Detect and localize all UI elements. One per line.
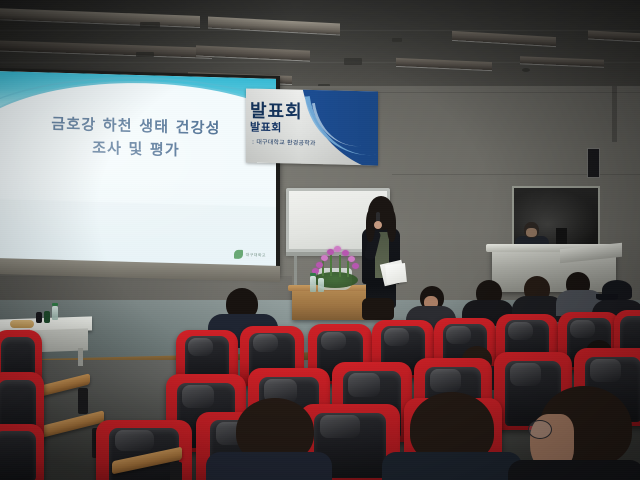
- cup-icon: [44, 311, 50, 323]
- slide-logo-text: 대구대학교: [246, 252, 266, 259]
- side-table-leg: [78, 348, 83, 366]
- orchid-bloom: [348, 256, 355, 262]
- auditorium-seat[interactable]: [0, 424, 44, 480]
- bottle-cap: [310, 273, 316, 276]
- orchid-bloom: [327, 249, 334, 255]
- projected-slide: 금호강 하천 생태 건강성 조사 및 평가 대구대학교: [0, 71, 276, 269]
- photo-scene: 금호강 하천 생태 건강성 조사 및 평가 대구대학교 발표회 발표회 : 대구…: [0, 0, 640, 480]
- water-bottle: [52, 306, 58, 320]
- bag: [362, 298, 394, 320]
- audience-shoulders: [508, 460, 640, 480]
- water-bottle: [310, 276, 316, 292]
- av-operator-face: [526, 228, 537, 237]
- leaf-icon: [234, 250, 243, 259]
- orchid-bloom: [316, 262, 323, 268]
- seat-armrest-post: [170, 462, 182, 480]
- bottle-cap: [52, 303, 58, 306]
- refreshment-item: [10, 320, 34, 328]
- audience-shoulders: [206, 452, 332, 480]
- event-banner: 발표회 발표회 : 대구대학교 환경공학과: [246, 89, 378, 166]
- cup-icon: [36, 312, 42, 323]
- water-bottle: [318, 278, 324, 292]
- seat-pad: [0, 431, 36, 480]
- slide-title: 금호강 하천 생태 건강성 조사 및 평가: [0, 111, 276, 165]
- slide-body: [0, 71, 276, 269]
- presenter-papers: [385, 263, 407, 284]
- eyeglasses-icon: [528, 420, 552, 439]
- orchid-bloom: [342, 250, 349, 256]
- wall-speaker-icon: [587, 148, 600, 178]
- projection-screen: 금호강 하천 생태 건강성 조사 및 평가 대구대학교: [0, 68, 280, 276]
- orchid-bloom: [352, 263, 359, 269]
- audience-shoulders: [382, 452, 522, 480]
- slide-university-logo: 대구대학교: [234, 250, 266, 260]
- seat-armrest-post: [78, 388, 88, 414]
- orchid-bloom: [321, 255, 328, 261]
- orchid-bloom: [334, 246, 341, 252]
- presenter-hand: [374, 221, 382, 229]
